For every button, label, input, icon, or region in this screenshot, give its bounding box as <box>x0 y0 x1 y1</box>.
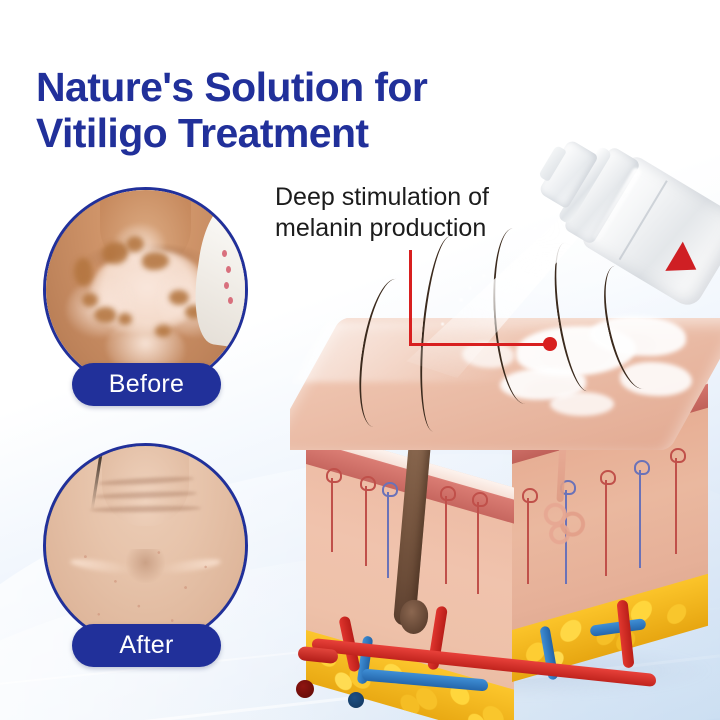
capillary-loop-head-3 <box>382 482 398 497</box>
callout-line-1: Deep stimulation of <box>275 182 543 213</box>
capillary-stem-3 <box>387 492 389 578</box>
after-skin-texture <box>62 534 229 637</box>
pigment-island-10 <box>74 258 92 286</box>
sweat-gland <box>538 496 592 550</box>
before-photo <box>43 187 248 392</box>
page-title: Nature's Solution for Vitiligo Treatment <box>36 65 566 157</box>
capillary-loop-head-8 <box>600 470 616 485</box>
capillary-loop-head-2 <box>360 476 376 491</box>
capillary-stem-8 <box>605 480 607 576</box>
before-badge: Before <box>72 363 221 406</box>
capillary-loop-head-4 <box>440 486 456 501</box>
capillary-stem-9 <box>639 470 641 568</box>
capillary-loop-head-5 <box>472 492 488 507</box>
after-badge-label: After <box>119 631 173 660</box>
capillary-stem-2 <box>365 486 367 566</box>
callout-text: Deep stimulation of melanin production <box>275 182 543 243</box>
artery-cut-opening <box>296 680 314 698</box>
capillary-loop-head-1 <box>326 468 342 483</box>
vein-cut-opening <box>348 692 364 708</box>
capillary-stem-10 <box>675 458 677 554</box>
capillary-stem-5 <box>477 502 479 594</box>
garment-dot-3 <box>224 282 229 289</box>
surface-vitiligo-patch-5 <box>550 392 614 416</box>
after-photo <box>43 443 248 648</box>
before-badge-label: Before <box>109 370 184 399</box>
capillary-stem-4 <box>445 496 447 584</box>
pigment-island-5 <box>94 307 116 323</box>
headline-line-1: Nature's Solution for <box>36 64 427 110</box>
garment-dot-2 <box>226 266 231 273</box>
headline-line-2: Vitiligo Treatment <box>36 111 566 157</box>
garment-dot-1 <box>222 250 227 257</box>
callout-line-2: melanin production <box>275 213 543 244</box>
capillary-stem-1 <box>331 478 333 552</box>
after-badge: After <box>72 624 221 667</box>
advertisement-canvas: Nature's Solution for Vitiligo Treatment <box>0 0 720 720</box>
pigment-island-2 <box>126 236 144 252</box>
pigment-island-8 <box>118 313 132 325</box>
capillary-stem-6 <box>527 498 529 584</box>
pigment-island-1 <box>102 242 128 264</box>
pigment-island-3 <box>142 252 170 270</box>
capillary-loop-head-6 <box>522 488 538 503</box>
